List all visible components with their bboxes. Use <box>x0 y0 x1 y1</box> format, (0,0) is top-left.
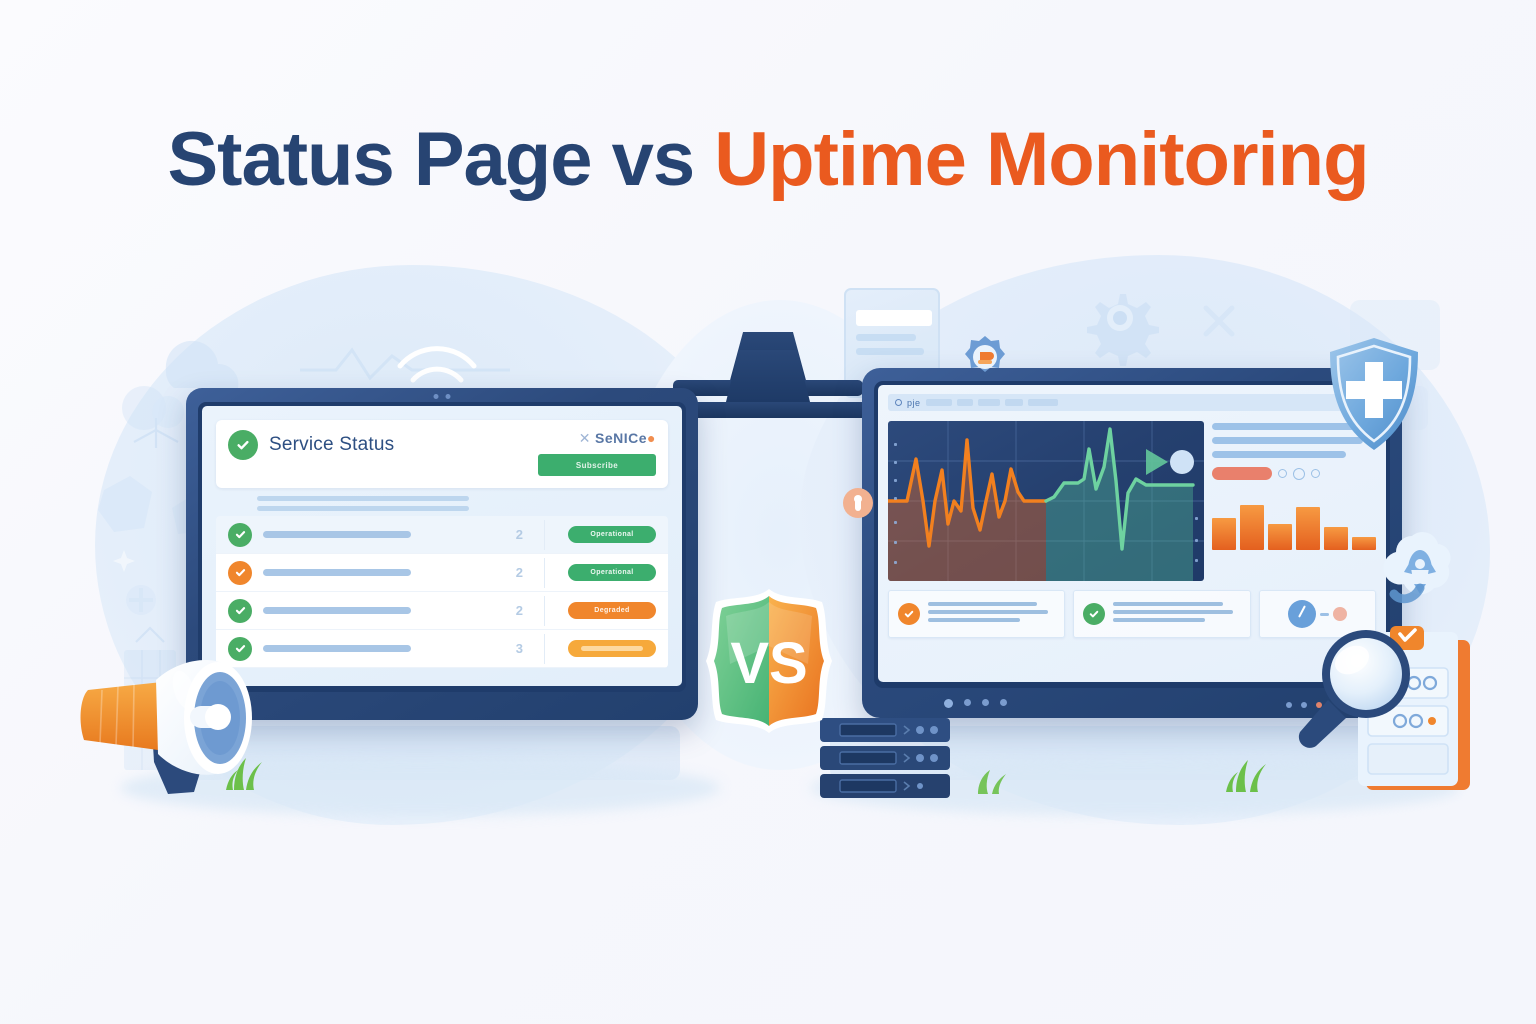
side-alert-pill <box>1212 467 1272 480</box>
header-placeholder-lines <box>257 496 668 511</box>
magnifier-icon <box>1288 624 1420 758</box>
monitor-right-base <box>668 402 868 418</box>
row-divider <box>544 634 545 664</box>
webcam-indicator-icon <box>434 394 451 399</box>
vs-badge: VS <box>686 586 852 736</box>
side-circle-icon <box>1278 469 1287 478</box>
service-status-header-card: Service Status ✕SeNICe● Subscribe <box>216 420 668 488</box>
row-name-bar <box>263 607 411 614</box>
row-number: 2 <box>516 603 523 618</box>
page-title: Status Page vs Uptime Monitoring <box>0 116 1536 203</box>
side-circle-icon <box>1311 469 1320 478</box>
title-part-status-page: Status Page vs <box>167 117 714 202</box>
brand-x-icon: ✕ <box>579 430 591 446</box>
card-check-icon <box>1083 603 1105 625</box>
table-row[interactable]: 2 Operational <box>216 554 668 592</box>
side-pill-row <box>1212 467 1376 480</box>
bar <box>1324 527 1348 550</box>
card-text-lines <box>928 602 1055 626</box>
row-name-bar <box>263 531 411 538</box>
service-status-check-icon <box>228 430 258 460</box>
row-check-icon <box>228 599 252 623</box>
row-divider <box>544 558 545 588</box>
toolbar-segment <box>1028 399 1058 406</box>
row-check-icon <box>228 561 252 585</box>
side-circle-icon <box>1293 468 1305 480</box>
record-circle-icon <box>895 399 902 406</box>
status-card[interactable] <box>1073 590 1250 638</box>
mini-bar-chart <box>1212 492 1376 550</box>
toolbar-segment <box>978 399 1000 406</box>
status-card[interactable] <box>888 590 1065 638</box>
toolbar-label: pje <box>907 398 921 408</box>
monitor-right-indicator-dots <box>944 699 1007 708</box>
service-brand-logo: ✕SeNICe● <box>538 430 656 447</box>
side-text-line <box>1212 451 1346 458</box>
brand-text: SeNICe <box>595 430 647 446</box>
row-check-icon <box>228 523 252 547</box>
brand-dot-icon: ● <box>647 430 656 446</box>
row-name-bar <box>263 569 411 576</box>
card-check-icon <box>898 603 920 625</box>
rocket-cloud-icon <box>1376 528 1464 608</box>
bar <box>1352 537 1376 550</box>
grass-icon <box>1224 758 1280 792</box>
lock-chip-icon <box>842 486 874 520</box>
toolbar-segment <box>926 399 952 406</box>
toolbar-segment <box>1005 399 1023 406</box>
table-row[interactable]: 2 Operational <box>216 516 668 554</box>
title-part-uptime-monitoring: Uptime Monitoring <box>714 117 1368 202</box>
bar <box>1268 524 1292 550</box>
bar <box>1296 507 1320 550</box>
uptime-line-chart <box>888 421 1204 581</box>
toolbar-segment <box>957 399 973 406</box>
row-number: 3 <box>516 641 523 656</box>
subscribe-button[interactable]: Subscribe <box>538 454 656 476</box>
vs-badge-label: VS <box>730 631 807 696</box>
alert-badge-icon <box>962 334 1008 380</box>
bar <box>1240 505 1264 550</box>
row-divider <box>544 520 545 550</box>
gauge-connector <box>1320 613 1329 616</box>
megaphone-icon <box>66 636 314 802</box>
table-row[interactable]: 2 Degraded <box>216 592 668 630</box>
grass-icon <box>970 768 1014 794</box>
row-number: 2 <box>516 565 523 580</box>
row-divider <box>544 596 545 626</box>
card-text-lines <box>1113 602 1240 626</box>
status-badge <box>568 640 656 657</box>
service-status-title: Service Status <box>269 430 394 460</box>
shield-check-icon <box>1326 336 1422 452</box>
status-badge: Operational <box>568 526 656 543</box>
row-number: 2 <box>516 527 523 542</box>
monitor-right-neck <box>725 350 811 406</box>
status-badge: Operational <box>568 564 656 581</box>
gauge-dial-icon <box>1333 607 1347 621</box>
dashboard-toolbar[interactable]: pje <box>888 394 1376 411</box>
bar <box>1212 518 1236 550</box>
status-badge: Degraded <box>568 602 656 619</box>
